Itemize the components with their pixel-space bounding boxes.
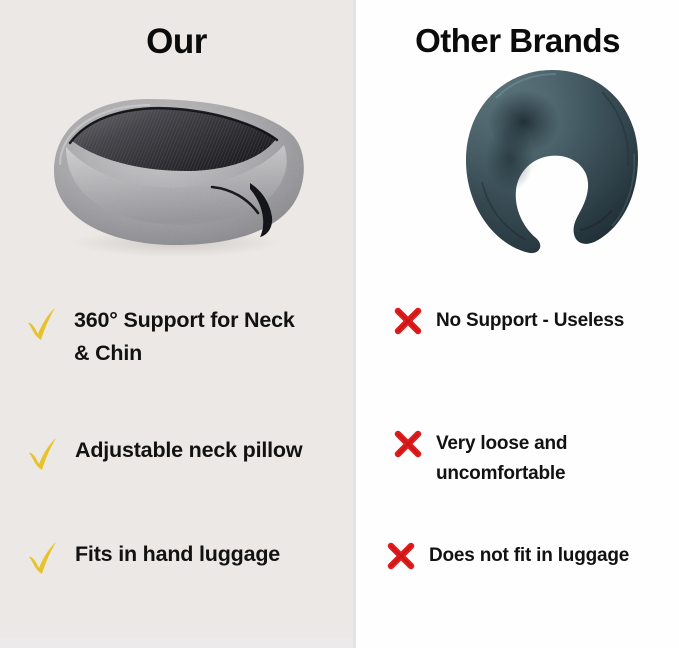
cross-icon [393,305,423,337]
list-item: No Support - Useless [393,305,624,337]
check-icon [24,303,58,343]
check-icon [25,433,59,473]
left-panel-footer-band [0,637,353,648]
cross-icon [393,428,423,460]
list-item: Fits in hand luggage [25,537,280,577]
list-item: Does not fit in luggage [386,540,629,572]
list-item-label: No Support - Useless [436,305,624,336]
check-icon [25,537,59,577]
product-comparison-image: Our Other Brands [0,0,679,648]
other-brand-pillow-image [452,62,652,272]
our-pillow-image [36,85,316,265]
cross-icon [386,540,416,572]
list-item-label: Fits in hand luggage [75,537,280,571]
list-item: Adjustable neck pillow [25,433,302,473]
list-item-label: Adjustable neck pillow [75,433,302,467]
panel-divider [353,0,356,648]
other-brands-heading: Other Brands [356,22,679,60]
list-item: 360° Support for Neck & Chin [24,303,295,370]
list-item-label: Very loose and uncomfortable [436,428,567,489]
our-heading: Our [0,22,353,62]
list-item-label: Does not fit in luggage [429,540,629,571]
list-item-label: 360° Support for Neck & Chin [74,303,295,370]
list-item: Very loose and uncomfortable [393,428,567,489]
